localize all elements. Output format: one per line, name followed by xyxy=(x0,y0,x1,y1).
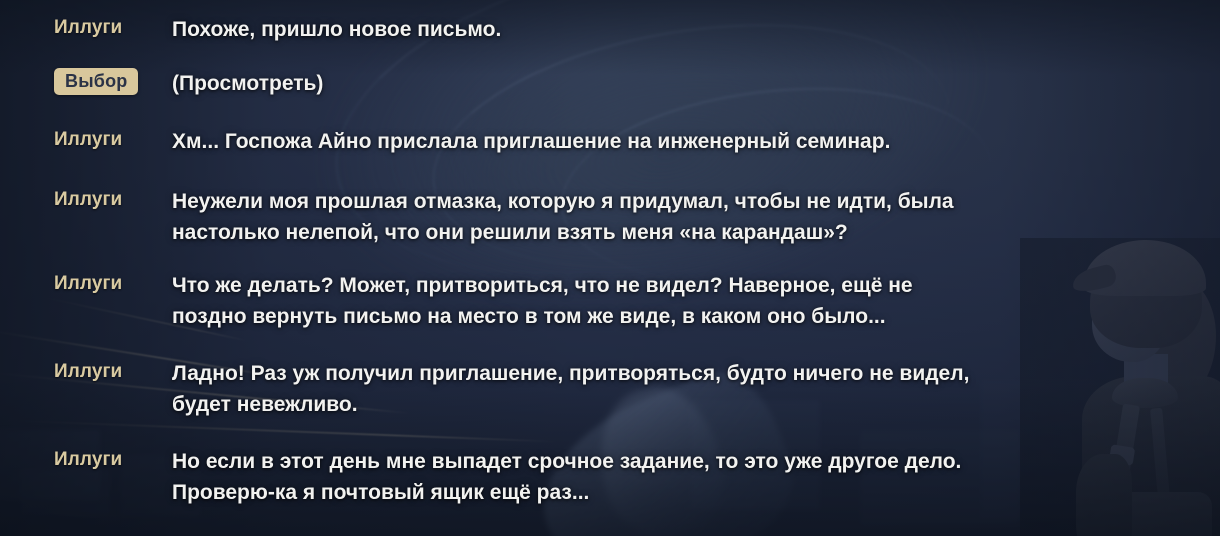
dialogue-text-line: поздно вернуть письмо на место в том же … xyxy=(172,301,913,332)
dialogue-text: Неужели моя прошлая отмазка, которую я п… xyxy=(172,186,954,248)
dialogue-text-line: (Просмотреть) xyxy=(172,68,323,99)
dialogue-choice-entry[interactable]: Выбор(Просмотреть) xyxy=(54,68,323,99)
dialogue-text: Хм... Госпожа Айно прислала приглашение … xyxy=(172,126,890,157)
speaker-name: Иллуги xyxy=(54,270,172,297)
dialogue-text-line: Ладно! Раз уж получил приглашение, притв… xyxy=(172,358,969,389)
dialogue-entry: ИллугиНо если в этот день мне выпадет ср… xyxy=(54,446,961,508)
dialogue-text: Похоже, пришло новое письмо. xyxy=(172,14,501,45)
dialogue-log-list[interactable]: ИллугиПохоже, пришло новое письмо.Выбор(… xyxy=(0,0,1220,536)
dialogue-text: Ладно! Раз уж получил приглашение, притв… xyxy=(172,358,969,420)
dialogue-entry: ИллугиХм... Госпожа Айно прислала пригла… xyxy=(54,126,890,157)
dialogue-text: Что же делать? Может, притвориться, что … xyxy=(172,270,913,332)
dialogue-entry: ИллугиПохоже, пришло новое письмо. xyxy=(54,14,501,45)
dialogue-entry: ИллугиЧто же делать? Может, притвориться… xyxy=(54,270,913,332)
dialogue-text-line: Похоже, пришло новое письмо. xyxy=(172,14,501,45)
dialogue-text-line: Проверю-ка я почтовый ящик ещё раз... xyxy=(172,477,961,508)
dialogue-text-line: Но если в этот день мне выпадет срочное … xyxy=(172,446,961,477)
speaker-name: Иллуги xyxy=(54,186,172,213)
dialogue-text: Но если в этот день мне выпадет срочное … xyxy=(172,446,961,508)
dialogue-text-line: Неужели моя прошлая отмазка, которую я п… xyxy=(172,186,954,217)
dialogue-text-line: будет невежливо. xyxy=(172,389,969,420)
choice-tag-container: Выбор xyxy=(54,68,172,96)
dialogue-text-line: Хм... Госпожа Айно прислала приглашение … xyxy=(172,126,890,157)
dialogue-entry: ИллугиЛадно! Раз уж получил приглашение,… xyxy=(54,358,969,420)
speaker-name: Иллуги xyxy=(54,446,172,473)
dialogue-text-line: настолько нелепой, что они решили взять … xyxy=(172,217,954,248)
dialogue-text-line: Что же делать? Может, притвориться, что … xyxy=(172,270,913,301)
dialogue-entry: ИллугиНеужели моя прошлая отмазка, котор… xyxy=(54,186,954,248)
speaker-name: Иллуги xyxy=(54,14,172,41)
choice-badge: Выбор xyxy=(54,68,138,95)
speaker-name: Иллуги xyxy=(54,358,172,385)
dialogue-log-screen: ИллугиПохоже, пришло новое письмо.Выбор(… xyxy=(0,0,1220,536)
dialogue-text: (Просмотреть) xyxy=(172,68,323,99)
speaker-name: Иллуги xyxy=(54,126,172,153)
